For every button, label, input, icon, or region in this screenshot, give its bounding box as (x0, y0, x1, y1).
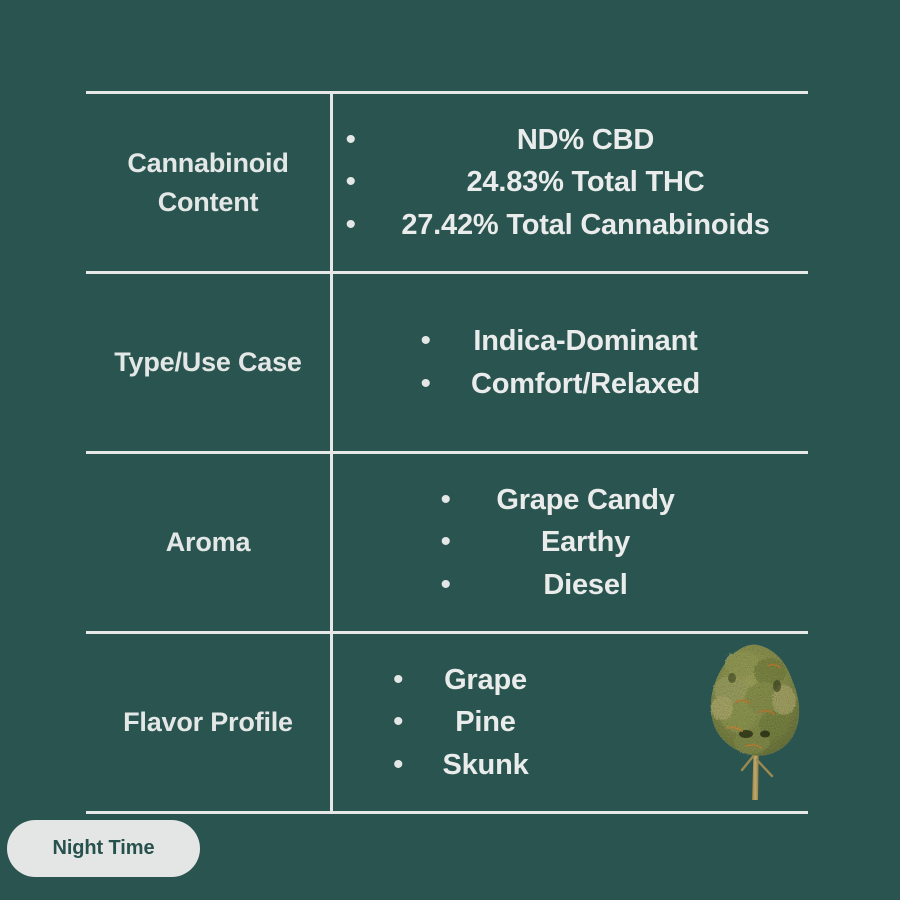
table-row-aroma: Aroma • Grape Candy • Earthy • Diesel (86, 454, 808, 631)
row-label-cell: Type/Use Case (86, 274, 330, 451)
list-item: • 24.83% Total THC (346, 161, 796, 204)
table-row-cannabinoid-content: Cannabinoid Content • ND% CBD • 24.83% T… (86, 94, 808, 271)
row-values-cell: • Grape • Pine • Skunk (333, 634, 808, 811)
row-label-line: Content (127, 183, 288, 221)
row-values-cell: • Indica-Dominant • Comfort/Relaxed (333, 274, 808, 451)
row-label-cell: Cannabinoid Content (86, 94, 330, 271)
list-item-label: ND% CBD (376, 119, 796, 162)
row-label-cell: Aroma (86, 454, 330, 631)
list-item-label: Earthy (471, 521, 701, 564)
badge-label: Night Time (53, 837, 155, 860)
list-item-label: Skunk (423, 744, 548, 787)
bullet-dot-icon: • (441, 522, 471, 563)
bullet-dot-icon: • (421, 364, 451, 405)
bullet-dot-icon: • (393, 702, 423, 743)
list-item: • Indica-Dominant (421, 320, 721, 363)
row-label: Flavor Profile (123, 703, 293, 741)
row-values-cell: • Grape Candy • Earthy • Diesel (333, 454, 808, 631)
list-item-label: Grape (423, 659, 548, 702)
list-item-label: 27.42% Total Cannabinoids (376, 204, 796, 247)
bullet-dot-icon: • (393, 660, 423, 701)
bullet-list: • ND% CBD • 24.83% Total THC • 27.42% To… (346, 119, 796, 247)
list-item: • Earthy (441, 521, 701, 564)
list-item-label: Diesel (471, 564, 701, 607)
list-item-label: Indica-Dominant (451, 320, 721, 363)
night-time-badge[interactable]: Night Time (7, 820, 200, 877)
row-label: Type/Use Case (114, 343, 302, 381)
bullet-dot-icon: • (393, 745, 423, 786)
table-row-flavor-profile: Flavor Profile • Grape • Pine • Skunk (86, 634, 808, 811)
row-label-line: Aroma (166, 523, 251, 561)
list-item: • ND% CBD (346, 119, 796, 162)
bullet-dot-icon: • (346, 120, 376, 161)
bullet-dot-icon: • (441, 480, 471, 521)
bullet-list: • Grape • Pine • Skunk (393, 659, 548, 787)
product-spec-table: Cannabinoid Content • ND% CBD • 24.83% T… (86, 91, 808, 814)
list-item-label: 24.83% Total THC (376, 161, 796, 204)
bullet-list: • Grape Candy • Earthy • Diesel (441, 479, 701, 607)
table-row-type-use-case: Type/Use Case • Indica-Dominant • Comfor… (86, 274, 808, 451)
cannabis-bud-image (702, 642, 808, 804)
row-label-cell: Flavor Profile (86, 634, 330, 811)
bullet-dot-icon: • (441, 565, 471, 606)
list-item: • Skunk (393, 744, 548, 787)
list-item: • Grape (393, 659, 548, 702)
list-item-label: Pine (423, 701, 548, 744)
row-label: Aroma (166, 523, 251, 561)
table-bottom-rule (86, 811, 808, 814)
list-item-label: Comfort/Relaxed (451, 363, 721, 406)
bullet-dot-icon: • (346, 162, 376, 203)
list-item: • Pine (393, 701, 548, 744)
row-label-line: Flavor Profile (123, 703, 293, 741)
row-label-line: Cannabinoid (127, 144, 288, 182)
row-label-line: Type/Use Case (114, 343, 302, 381)
list-item: • Grape Candy (441, 479, 701, 522)
bullet-list: • Indica-Dominant • Comfort/Relaxed (421, 320, 721, 405)
list-item: • Comfort/Relaxed (421, 363, 721, 406)
list-item: • 27.42% Total Cannabinoids (346, 204, 796, 247)
bullet-dot-icon: • (421, 321, 451, 362)
list-item: • Diesel (441, 564, 701, 607)
row-values-cell: • ND% CBD • 24.83% Total THC • 27.42% To… (333, 94, 808, 271)
row-label: Cannabinoid Content (127, 144, 288, 221)
bullet-dot-icon: • (346, 205, 376, 246)
list-item-label: Grape Candy (471, 479, 701, 522)
